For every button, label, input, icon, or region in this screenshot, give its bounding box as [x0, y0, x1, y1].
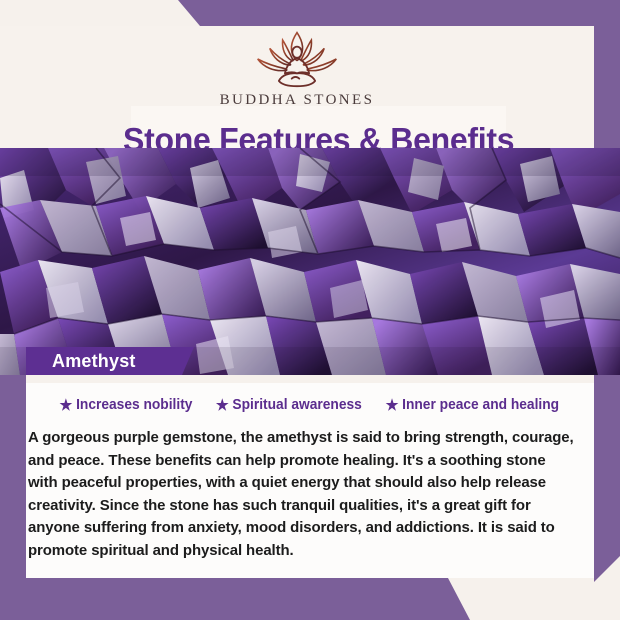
benefits-list: ★ Increases nobility ★ Spiritual awarene…: [26, 397, 594, 413]
panel-top-strip: [26, 375, 594, 383]
brand-logo: BUDDHA STONES: [0, 28, 594, 109]
stone-name-banner: Amethyst: [26, 347, 194, 375]
frame-left-bar: [0, 370, 26, 600]
stone-name-label: Amethyst: [26, 351, 136, 372]
benefit-item: ★ Increases nobility: [59, 397, 192, 413]
frame-bottom-bar: [0, 578, 620, 620]
benefit-item: ★ Inner peace and healing: [386, 397, 560, 413]
stone-info-card: BUDDHA STONES Stone Features & Benefits: [0, 0, 620, 620]
card-header: BUDDHA STONES Stone Features & Benefits: [0, 26, 594, 148]
stone-description: A gorgeous purple gemstone, the amethyst…: [28, 427, 576, 562]
benefit-label: Increases nobility: [76, 397, 192, 413]
stone-hero-image: [0, 148, 620, 375]
benefit-label: Spiritual awareness: [232, 397, 361, 413]
benefit-item: ★ Spiritual awareness: [216, 397, 362, 413]
frame-top-bar: [0, 0, 620, 26]
lotus-meditation-icon: [251, 28, 343, 90]
star-icon: ★: [59, 398, 72, 413]
star-icon: ★: [386, 398, 399, 413]
content-panel: ★ Increases nobility ★ Spiritual awarene…: [26, 375, 594, 578]
star-icon: ★: [216, 398, 229, 413]
amethyst-crystal-cluster-illustration: [0, 148, 620, 375]
benefit-label: Inner peace and healing: [403, 397, 560, 413]
